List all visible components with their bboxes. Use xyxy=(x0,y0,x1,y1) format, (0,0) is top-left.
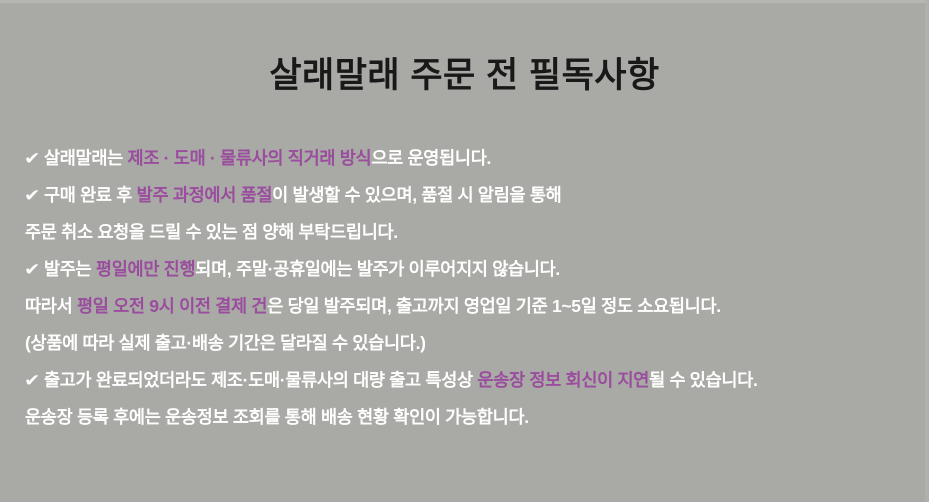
page-title: 살래말래 주문 전 필독사항 xyxy=(0,57,929,96)
notice-text: 살래말래는 xyxy=(44,148,128,168)
notice-text: 출고가 완료되었더라도 제조·도매·물류사의 대량 출고 특성상 xyxy=(44,370,477,390)
notice-line: ✔발주는 평일에만 진행되며, 주말·공휴일에는 발주가 이루어지지 않습니다. xyxy=(25,251,925,288)
notice-line: 주문 취소 요청을 드릴 수 있는 점 양해 부탁드립니다. xyxy=(25,214,925,251)
highlighted-text: 제조 · 도매 · 물류사의 직거래 방식 xyxy=(128,148,372,168)
notice-text: 주문 취소 요청을 드릴 수 있는 점 양해 부탁드립니다. xyxy=(25,222,398,242)
notice-line: ✔구매 완료 후 발주 과정에서 품절이 발생할 수 있으며, 품절 시 알림을… xyxy=(25,177,925,214)
highlighted-text: 발주 과정에서 품절 xyxy=(137,185,273,205)
notice-text: (상품에 따라 실제 출고·배송 기간은 달라질 수 있습니다.) xyxy=(25,333,426,353)
notice-line: ✔출고가 완료되었더라도 제조·도매·물류사의 대량 출고 특성상 운송장 정보… xyxy=(25,362,925,399)
highlighted-text: 평일 오전 9시 이전 결제 건 xyxy=(77,296,267,316)
top-edge-strip xyxy=(0,0,929,3)
notice-line: 따라서 평일 오전 9시 이전 결제 건은 당일 발주되며, 출고까지 영업일 … xyxy=(25,288,925,325)
checkmark-icon: ✔ xyxy=(24,140,40,177)
checkmark-icon: ✔ xyxy=(24,177,40,214)
notice-line: ✔살래말래는 제조 · 도매 · 물류사의 직거래 방식으로 운영됩니다. xyxy=(25,140,925,177)
checkmark-icon: ✔ xyxy=(24,362,40,399)
notice-line: 운송장 등록 후에는 운송정보 조회를 통해 배송 현황 확인이 가능합니다. xyxy=(25,399,925,436)
order-notice-card: 살래말래 주문 전 필독사항 ✔살래말래는 제조 · 도매 · 물류사의 직거래… xyxy=(0,0,929,502)
notice-text: 따라서 xyxy=(25,296,77,316)
checkmark-icon: ✔ xyxy=(24,251,40,288)
notice-text: 운송장 등록 후에는 운송정보 조회를 통해 배송 현황 확인이 가능합니다. xyxy=(25,407,529,427)
highlighted-text: 평일에만 진행 xyxy=(96,259,195,279)
notice-text: 발주는 xyxy=(44,259,96,279)
notice-body: ✔살래말래는 제조 · 도매 · 물류사의 직거래 방식으로 운영됩니다.✔구매… xyxy=(25,140,925,436)
notice-text: 될 수 있습니다. xyxy=(649,370,758,390)
notice-line: (상품에 따라 실제 출고·배송 기간은 달라질 수 있습니다.) xyxy=(25,325,925,362)
notice-text: 되며, 주말·공휴일에는 발주가 이루어지지 않습니다. xyxy=(195,259,560,279)
notice-text: 이 발생할 수 있으며, 품절 시 알림을 통해 xyxy=(272,185,561,205)
notice-text: 구매 완료 후 xyxy=(44,185,137,205)
notice-text: 으로 운영됩니다. xyxy=(371,148,491,168)
highlighted-text: 운송장 정보 회신이 지연 xyxy=(477,370,649,390)
notice-text: 은 당일 발주되며, 출고까지 영업일 기준 1~5일 정도 소요됩니다. xyxy=(267,296,721,316)
